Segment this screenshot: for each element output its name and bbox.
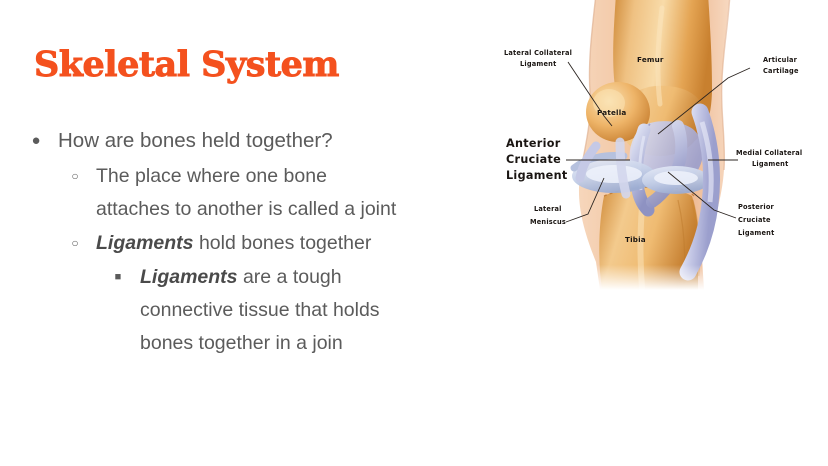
bullet-level2-joint-text: The place where one bone attaches to ano… — [96, 160, 492, 226]
bullet-circle-icon: ○ — [64, 160, 86, 193]
medial-meniscus-inner — [654, 171, 698, 185]
bullet-disc-icon: ● — [22, 124, 50, 158]
joint-line-2: attaches to another is called a joint — [96, 198, 396, 220]
figure-right-fade — [788, 0, 828, 290]
label-anterior-cruciate-ligament-line3: Ligament — [506, 169, 568, 182]
slide-body-content: ● How are bones held together? ○ The pla… — [22, 124, 492, 360]
label-posterior-cruciate-ligament-line3: Ligament — [738, 229, 774, 237]
definition-line-2: connective tissue that holds — [140, 299, 380, 321]
bullet-circle-icon: ○ — [64, 227, 86, 260]
label-lateral-collateral-ligament-line2: Ligament — [520, 60, 556, 68]
bullet-level1: ● How are bones held together? — [22, 124, 492, 158]
bullet-level2-ligaments: ○ Ligaments hold bones together — [22, 227, 492, 260]
label-posterior-cruciate-ligament-line2: Cruciate — [738, 216, 771, 224]
ligaments-emphasis: Ligaments — [96, 232, 194, 254]
label-lateral-meniscus-line1: Lateral — [534, 205, 562, 213]
bullet-level3-definition: ■ Ligaments are a tough connective tissu… — [22, 261, 492, 360]
label-lateral-meniscus-line2: Meniscus — [530, 218, 566, 226]
label-femur: Femur — [637, 55, 664, 64]
label-articular-cartilage-line1: Articular — [763, 56, 798, 64]
bullet-level1-text: How are bones held together? — [58, 124, 492, 158]
label-anterior-cruciate-ligament-line2: Cruciate — [506, 153, 561, 166]
label-lateral-collateral-ligament-line1: Lateral Collateral — [504, 49, 572, 57]
label-patella: Patella — [597, 108, 626, 117]
label-tibia: Tibia — [625, 235, 646, 244]
presentation-slide: Skeletal System ● How are bones held tog… — [0, 0, 828, 466]
bullet-level3-definition-text: Ligaments are a tough connective tissue … — [140, 261, 492, 360]
joint-line-1: The place where one bone — [96, 165, 327, 187]
page-title: Skeletal System — [34, 44, 339, 86]
ligaments-rest: hold bones together — [194, 232, 372, 254]
bullet-level2-joint: ○ The place where one bone attaches to a… — [22, 160, 492, 226]
label-medial-collateral-ligament-line1: Medial Collateral — [736, 149, 802, 157]
label-articular-cartilage-line2: Cartilage — [763, 67, 799, 75]
label-anterior-cruciate-ligament-line1: Anterior — [506, 137, 561, 150]
label-posterior-cruciate-ligament-line1: Posterior — [738, 203, 775, 211]
definition-line-1: are a tough — [238, 266, 342, 288]
definition-line-3: bones together in a join — [140, 332, 343, 354]
bullet-level2-ligaments-text: Ligaments hold bones together — [96, 227, 492, 260]
bullet-square-icon: ■ — [108, 261, 128, 294]
lateral-meniscus-inner — [586, 165, 642, 183]
label-medial-collateral-ligament-line2: Ligament — [752, 160, 788, 168]
knee-joint-anatomy-image: Lateral Collateral Ligament Femur Articu… — [492, 0, 828, 290]
ligaments-emphasis: Ligaments — [140, 266, 238, 288]
